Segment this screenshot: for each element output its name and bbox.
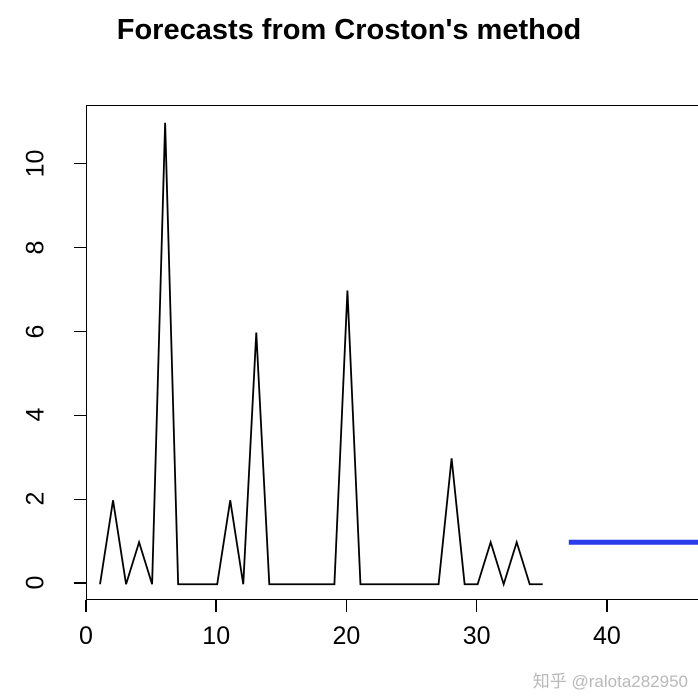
chart-container: Forecasts from Croston's method 01020304…	[0, 0, 698, 698]
y-tick	[74, 247, 86, 249]
series-line-historical	[100, 123, 543, 584]
y-tick	[74, 331, 86, 333]
x-tick-label: 10	[176, 622, 256, 651]
x-tick-label: 30	[437, 622, 517, 651]
x-tick	[215, 600, 217, 612]
x-tick	[346, 600, 348, 612]
y-tick	[74, 163, 86, 165]
watermark-text: 知乎 @ralota282950	[533, 667, 688, 692]
y-tick-label: 4	[22, 385, 51, 445]
x-tick-label: 40	[567, 622, 647, 651]
chart-title: Forecasts from Croston's method	[0, 14, 698, 47]
x-tick	[85, 600, 87, 612]
x-tick-label: 20	[306, 622, 386, 651]
x-tick-label: 0	[46, 622, 126, 651]
x-tick	[606, 600, 608, 612]
y-tick-label: 10	[22, 133, 51, 193]
y-tick	[74, 499, 86, 501]
y-tick-label: 2	[22, 469, 51, 529]
plot-svg	[87, 106, 698, 600]
y-tick	[74, 415, 86, 417]
y-tick	[74, 582, 86, 584]
plot-area	[86, 105, 698, 600]
y-tick-label: 0	[22, 553, 51, 613]
y-tick-label: 6	[22, 301, 51, 361]
x-tick	[476, 600, 478, 612]
y-tick-label: 8	[22, 217, 51, 277]
